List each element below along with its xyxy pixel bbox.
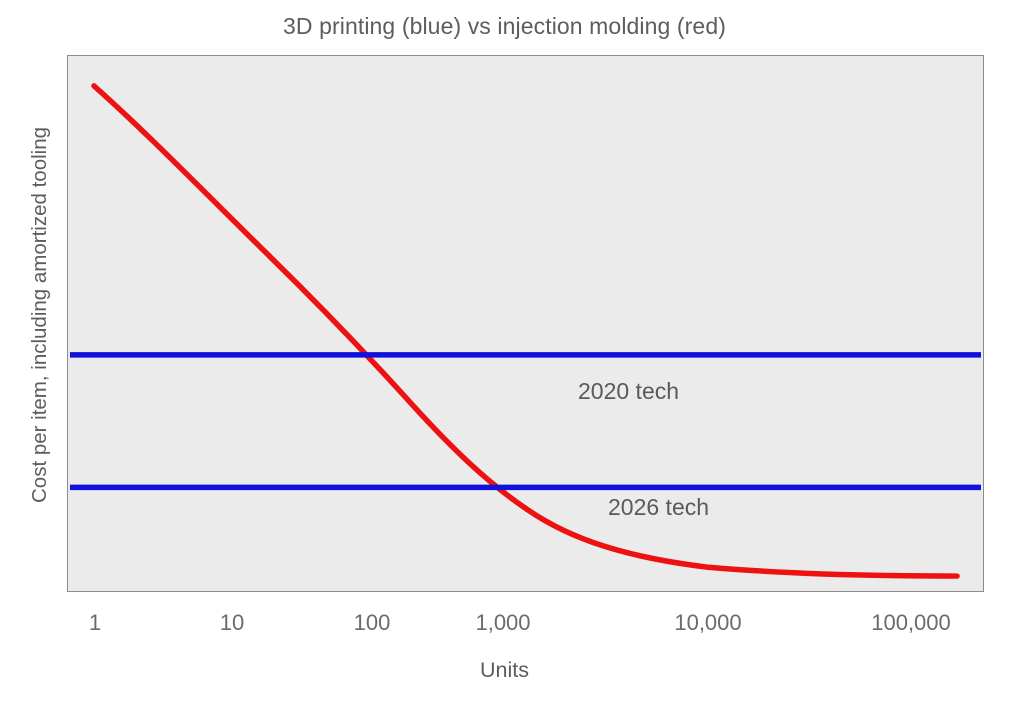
chart-title: 3D printing (blue) vs injection molding …: [0, 13, 1009, 40]
y-axis-label: Cost per item, including amortized tooli…: [28, 35, 52, 595]
plot-canvas: [68, 56, 983, 591]
x-tick-label-10: 10: [220, 610, 244, 636]
x-axis-label: Units: [0, 658, 1009, 683]
x-tick-label-1000: 1,000: [475, 610, 530, 636]
annotation-2020-tech: 2020 tech: [578, 378, 679, 405]
annotation-2026-tech: 2026 tech: [608, 494, 709, 521]
plot-area: 2020 tech 2026 tech: [67, 55, 984, 592]
x-tick-label-100000: 100,000: [871, 610, 951, 636]
x-tick-label-100: 100: [354, 610, 391, 636]
series-injection-molding-line: [94, 86, 957, 576]
x-tick-label-1: 1: [89, 610, 101, 636]
x-tick-label-10000: 10,000: [674, 610, 741, 636]
chart-figure: 3D printing (blue) vs injection molding …: [0, 0, 1009, 703]
